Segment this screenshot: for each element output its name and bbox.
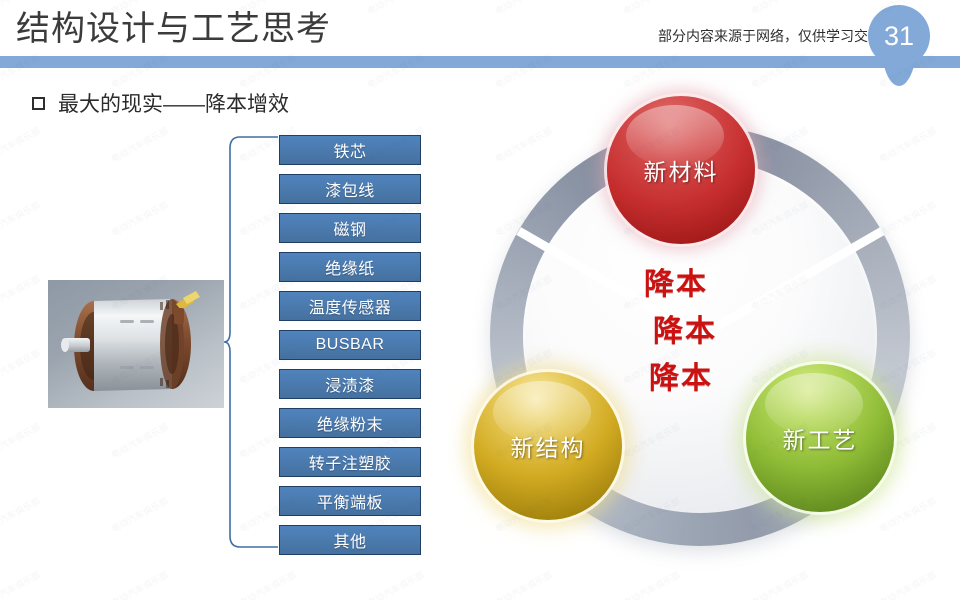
watermark-text: 电动汽车俱乐部 bbox=[0, 568, 42, 600]
node-new-structure[interactable]: 新结构 bbox=[474, 372, 622, 520]
list-item[interactable]: 浸渍漆 bbox=[279, 369, 421, 399]
list-item[interactable]: 漆包线 bbox=[279, 174, 421, 204]
watermark-text: 电动汽车俱乐部 bbox=[0, 494, 42, 535]
node-label: 新工艺 bbox=[783, 421, 858, 455]
list-item[interactable]: 绝缘纸 bbox=[279, 252, 421, 282]
center-slogan-line: 降本 bbox=[590, 308, 780, 355]
watermark-text: 电动汽车俱乐部 bbox=[237, 568, 299, 600]
slide-header: 结构设计与工艺思考 部分内容来源于网络，仅供学习交流 31 bbox=[0, 0, 960, 70]
bullet-text: 最大的现实——降本增效 bbox=[58, 88, 289, 118]
list-item[interactable]: 温度传感器 bbox=[279, 291, 421, 321]
watermark-text: 电动汽车俱乐部 bbox=[0, 346, 42, 387]
bullet-row: 最大的现实——降本增效 bbox=[32, 88, 289, 118]
list-item[interactable]: 平衡端板 bbox=[279, 486, 421, 516]
watermark-text: 电动汽车俱乐部 bbox=[0, 420, 42, 461]
watermark-text: 电动汽车俱乐部 bbox=[749, 568, 811, 600]
cost-reduction-diagram: 降本 降本 降本 新材料 新结构 新工艺 bbox=[468, 96, 932, 566]
center-slogan-line: 降本 bbox=[582, 355, 780, 402]
watermark-text: 电动汽车俱乐部 bbox=[109, 420, 171, 461]
watermark-text: 电动汽车俱乐部 bbox=[365, 568, 427, 600]
watermark-text: 电动汽车俱乐部 bbox=[621, 568, 683, 600]
list-item[interactable]: 转子注塑胶 bbox=[279, 447, 421, 477]
header-accent-bar bbox=[0, 56, 960, 68]
watermark-text: 电动汽车俱乐部 bbox=[109, 568, 171, 600]
node-new-material[interactable]: 新材料 bbox=[607, 96, 755, 244]
node-new-process[interactable]: 新工艺 bbox=[746, 364, 894, 512]
center-slogan-line: 降本 bbox=[572, 261, 780, 308]
watermark-text: 电动汽车俱乐部 bbox=[109, 494, 171, 535]
list-item[interactable]: 其他 bbox=[279, 525, 421, 555]
list-item[interactable]: 铁芯 bbox=[279, 135, 421, 165]
list-item[interactable]: BUSBAR bbox=[279, 330, 421, 360]
page-number-text: 31 bbox=[868, 5, 930, 67]
watermark-text: 电动汽车俱乐部 bbox=[109, 124, 171, 165]
component-list: 铁芯 漆包线 磁钢 绝缘纸 温度传感器 BUSBAR 浸渍漆 绝缘粉末 转子注塑… bbox=[279, 135, 421, 564]
watermark-text: 电动汽车俱乐部 bbox=[493, 568, 555, 600]
motor-illustration-icon bbox=[48, 280, 224, 408]
square-bullet-icon bbox=[32, 97, 45, 110]
header-note: 部分内容来源于网络，仅供学习交流 bbox=[658, 26, 882, 46]
watermark-text: 电动汽车俱乐部 bbox=[109, 198, 171, 239]
watermark-text: 电动汽车俱乐部 bbox=[0, 124, 42, 165]
node-label: 新结构 bbox=[511, 429, 586, 463]
node-label: 新材料 bbox=[644, 153, 719, 187]
slide-canvas: 结构设计与工艺思考 部分内容来源于网络，仅供学习交流 31 最大的现实——降本增… bbox=[0, 0, 960, 600]
bracket-connector-icon bbox=[222, 132, 282, 552]
page-number-badge: 31 bbox=[868, 5, 930, 87]
watermark-text: 电动汽车俱乐部 bbox=[877, 568, 939, 600]
watermark-text: 电动汽车俱乐部 bbox=[0, 198, 42, 239]
list-item[interactable]: 磁钢 bbox=[279, 213, 421, 243]
list-item[interactable]: 绝缘粉末 bbox=[279, 408, 421, 438]
motor-photo bbox=[48, 280, 224, 408]
watermark-text: 电动汽车俱乐部 bbox=[0, 272, 42, 313]
page-title: 结构设计与工艺思考 bbox=[16, 7, 331, 51]
center-slogan: 降本 降本 降本 bbox=[580, 261, 780, 402]
